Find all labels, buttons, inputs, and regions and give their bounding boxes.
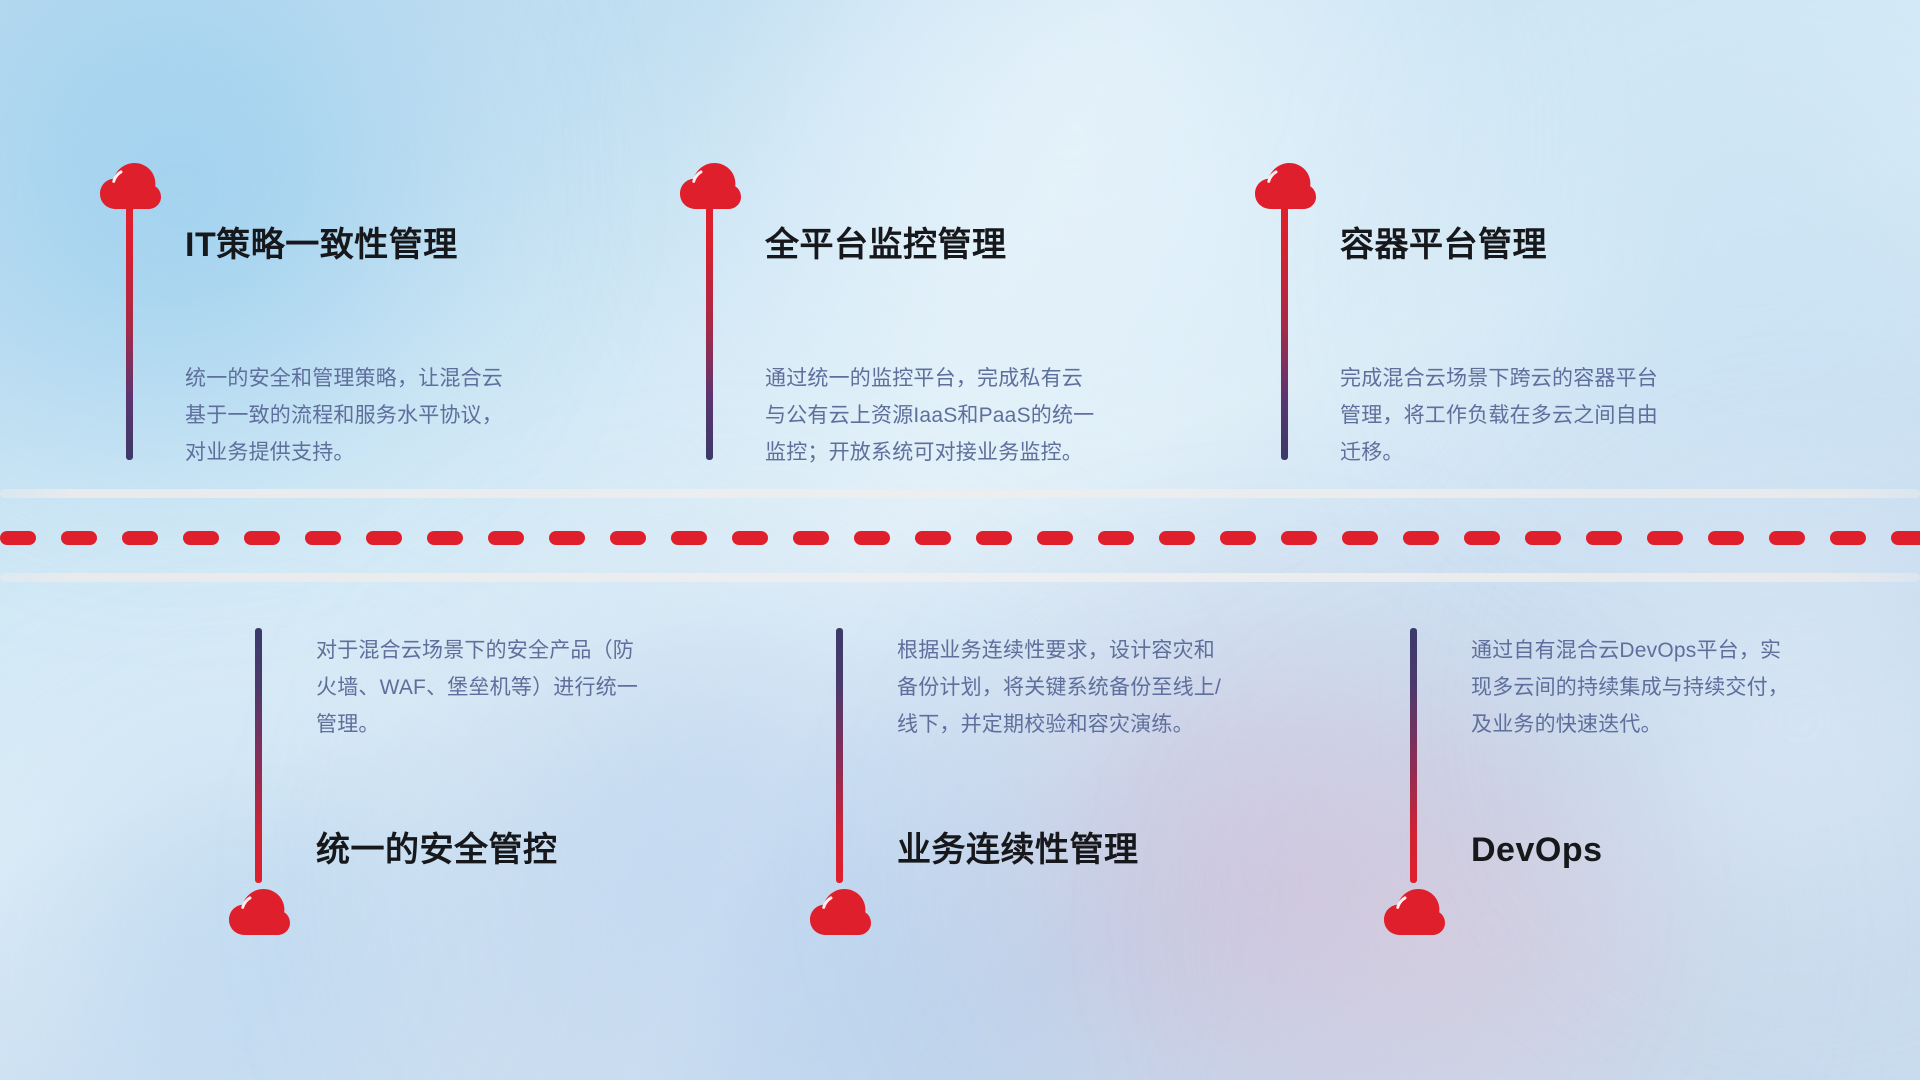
road-dash	[0, 531, 36, 545]
connector-pole	[255, 628, 262, 883]
road-dash	[183, 531, 219, 545]
bottom-card-3-description: 通过自有混合云DevOps平台，实现多云间的持续集成与持续交付，及业务的快速迭代…	[1471, 632, 1801, 743]
connector-pole	[1410, 628, 1417, 883]
road-dash	[1464, 531, 1500, 545]
cloud-pin-icon	[227, 886, 291, 936]
cloud-pin-icon	[1253, 160, 1317, 210]
bottom-card-2-title: 业务连续性管理	[897, 833, 1139, 867]
road-divider	[0, 489, 1920, 589]
cloud-pin-icon	[1382, 886, 1446, 936]
road-dash	[549, 531, 585, 545]
road-dash	[915, 531, 951, 545]
top-card-1-description: 统一的安全和管理策略，让混合云基于一致的流程和服务水平协议，对业务提供支持。	[185, 360, 515, 471]
bottom-card-2-description: 根据业务连续性要求，设计容灾和备份计划，将关键系统备份至线上/线下，并定期校验和…	[897, 632, 1227, 743]
road-dash	[1891, 531, 1920, 545]
road-dash	[61, 531, 97, 545]
road-dash	[1281, 531, 1317, 545]
road-dash	[854, 531, 890, 545]
road-dash	[732, 531, 768, 545]
top-card-3-description: 完成混合云场景下跨云的容器平台管理，将工作负载在多云之间自由迁移。	[1340, 360, 1670, 471]
bottom-card-3-title: DevOps	[1471, 833, 1603, 867]
road-dash	[305, 531, 341, 545]
road-dash	[1647, 531, 1683, 545]
road-dash	[1525, 531, 1561, 545]
road-dash	[122, 531, 158, 545]
road-dash	[976, 531, 1012, 545]
road-rail-top	[0, 489, 1920, 498]
road-dash	[427, 531, 463, 545]
bottom-card-1-description: 对于混合云场景下的安全产品（防火墙、WAF、堡垒机等）进行统一管理。	[316, 632, 646, 743]
road-rail-bottom	[0, 573, 1920, 582]
infographic-canvas: IT策略一致性管理 统一的安全和管理策略，让混合云基于一致的流程和服务水平协议，…	[0, 0, 1920, 1080]
connector-pole	[836, 628, 843, 883]
connector-pole	[706, 205, 713, 460]
road-dash	[1220, 531, 1256, 545]
bottom-card-1-title: 统一的安全管控	[316, 833, 558, 867]
connector-pole	[1281, 205, 1288, 460]
cloud-pin-icon	[678, 160, 742, 210]
road-dash	[1769, 531, 1805, 545]
road-dash	[1830, 531, 1866, 545]
cloud-pin-icon	[98, 160, 162, 210]
road-dash	[244, 531, 280, 545]
road-dash	[488, 531, 524, 545]
road-dash	[366, 531, 402, 545]
top-card-2-title: 全平台监控管理	[765, 228, 1007, 262]
road-dash	[1342, 531, 1378, 545]
road-dash	[1159, 531, 1195, 545]
connector-pole	[126, 205, 133, 460]
top-card-1-title: IT策略一致性管理	[185, 228, 458, 262]
road-dash	[793, 531, 829, 545]
top-card-2-description: 通过统一的监控平台，完成私有云与公有云上资源IaaS和PaaS的统一监控；开放系…	[765, 360, 1095, 471]
road-dash	[1037, 531, 1073, 545]
cloud-pin-icon	[808, 886, 872, 936]
road-dash	[1403, 531, 1439, 545]
road-dashes	[0, 531, 1920, 545]
road-dash	[1098, 531, 1134, 545]
road-dash	[1586, 531, 1622, 545]
top-card-3-title: 容器平台管理	[1340, 228, 1547, 262]
road-dash	[610, 531, 646, 545]
road-dash	[1708, 531, 1744, 545]
road-dash	[671, 531, 707, 545]
